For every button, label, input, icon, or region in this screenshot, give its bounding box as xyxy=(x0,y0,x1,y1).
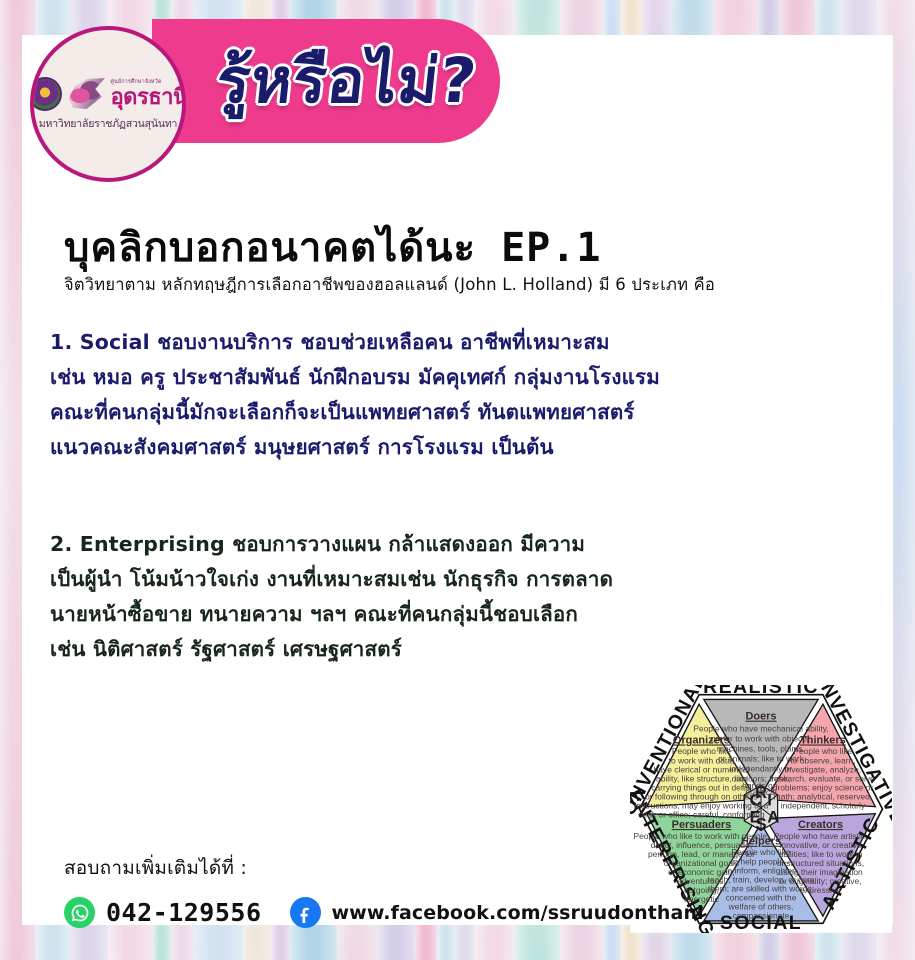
svg-text:Creators: Creators xyxy=(798,819,843,831)
section-line: นายหน้าซื้อขาย ทนายความ ฯลฯ คณะที่คนกลุ่… xyxy=(50,597,880,632)
svg-text:compassionate: compassionate xyxy=(733,911,790,921)
section-line: 1. Social ชอบงานบริการ ชอบช่วยเหลือคน อา… xyxy=(50,325,880,360)
page-title: บุคลิกบอกอนาคตได้นะ EP.1 xyxy=(64,215,601,279)
section-line: เช่น หมอ ครู ประชาสัมพันธ์ นักฝึกอบรม มั… xyxy=(50,360,880,395)
svg-text:People who have mechanical abi: People who have mechanical ability, xyxy=(693,723,828,733)
facebook-icon[interactable] xyxy=(290,897,321,928)
svg-text:desk or office; careful, confo: desk or office; careful, conforming xyxy=(638,810,765,820)
section-line: เป็นผู้นำ โน้มน้าวใจเก่ง งานที่เหมาะสมเช… xyxy=(50,562,880,597)
section-line: เช่น นิติศาสตร์ รัฐศาสตร์ เศรษฐศาสตร์ xyxy=(50,632,880,667)
section-line: 2. Enterprising ชอบการวางแผน กล้าแสดงออก… xyxy=(50,527,880,562)
phone-number[interactable]: 042-129556 xyxy=(106,898,262,927)
svg-text:Thinkers: Thinkers xyxy=(800,735,846,747)
contact-phone[interactable]: 042-129556 xyxy=(64,897,262,928)
svg-text:Doers: Doers xyxy=(745,711,776,723)
section-line: แนวคณะสังคมศาสตร์ มนุษยศาสตร์ การโรงแรม … xyxy=(50,430,880,465)
poster-content: บุคลิกบอกอนาคตได้นะ EP.1 จิตวิทยาตาม หลั… xyxy=(22,35,893,925)
section-line: คณะที่คนกลุ่มนี้มักจะเลือกก็จะเป็นแพทยศา… xyxy=(50,395,880,430)
facebook-url[interactable]: www.facebook.com/ssruudonthani xyxy=(332,902,704,924)
svg-text:Organizers: Organizers xyxy=(673,735,730,747)
contact-facebook[interactable]: www.facebook.com/ssruudonthani xyxy=(290,897,704,928)
svg-text:independent, scholarly: independent, scholarly xyxy=(781,801,866,811)
page-subtitle: จิตวิทยาตาม หลักทฤษฎีการเลือกอาชีพของฮอล… xyxy=(64,272,715,298)
section-enterprising: 2. Enterprising ชอบการวางแผน กล้าแสดงออก… xyxy=(50,527,880,667)
section-social: 1. Social ชอบงานบริการ ชอบช่วยเหลือคน อา… xyxy=(50,325,880,465)
ring-label-realistic: REALISTIC xyxy=(703,685,819,698)
center-letter-A: A xyxy=(767,807,779,826)
footer-label: สอบถามเพิ่มเติมได้ที่ : xyxy=(64,853,704,883)
footer: สอบถามเพิ่มเติมได้ที่ : 042-129556 www.f… xyxy=(64,853,704,928)
footer-contacts: 042-129556 www.facebook.com/ssruudonthan… xyxy=(64,897,704,928)
whatsapp-icon[interactable] xyxy=(64,897,95,928)
svg-text:Persuaders: Persuaders xyxy=(672,819,732,831)
